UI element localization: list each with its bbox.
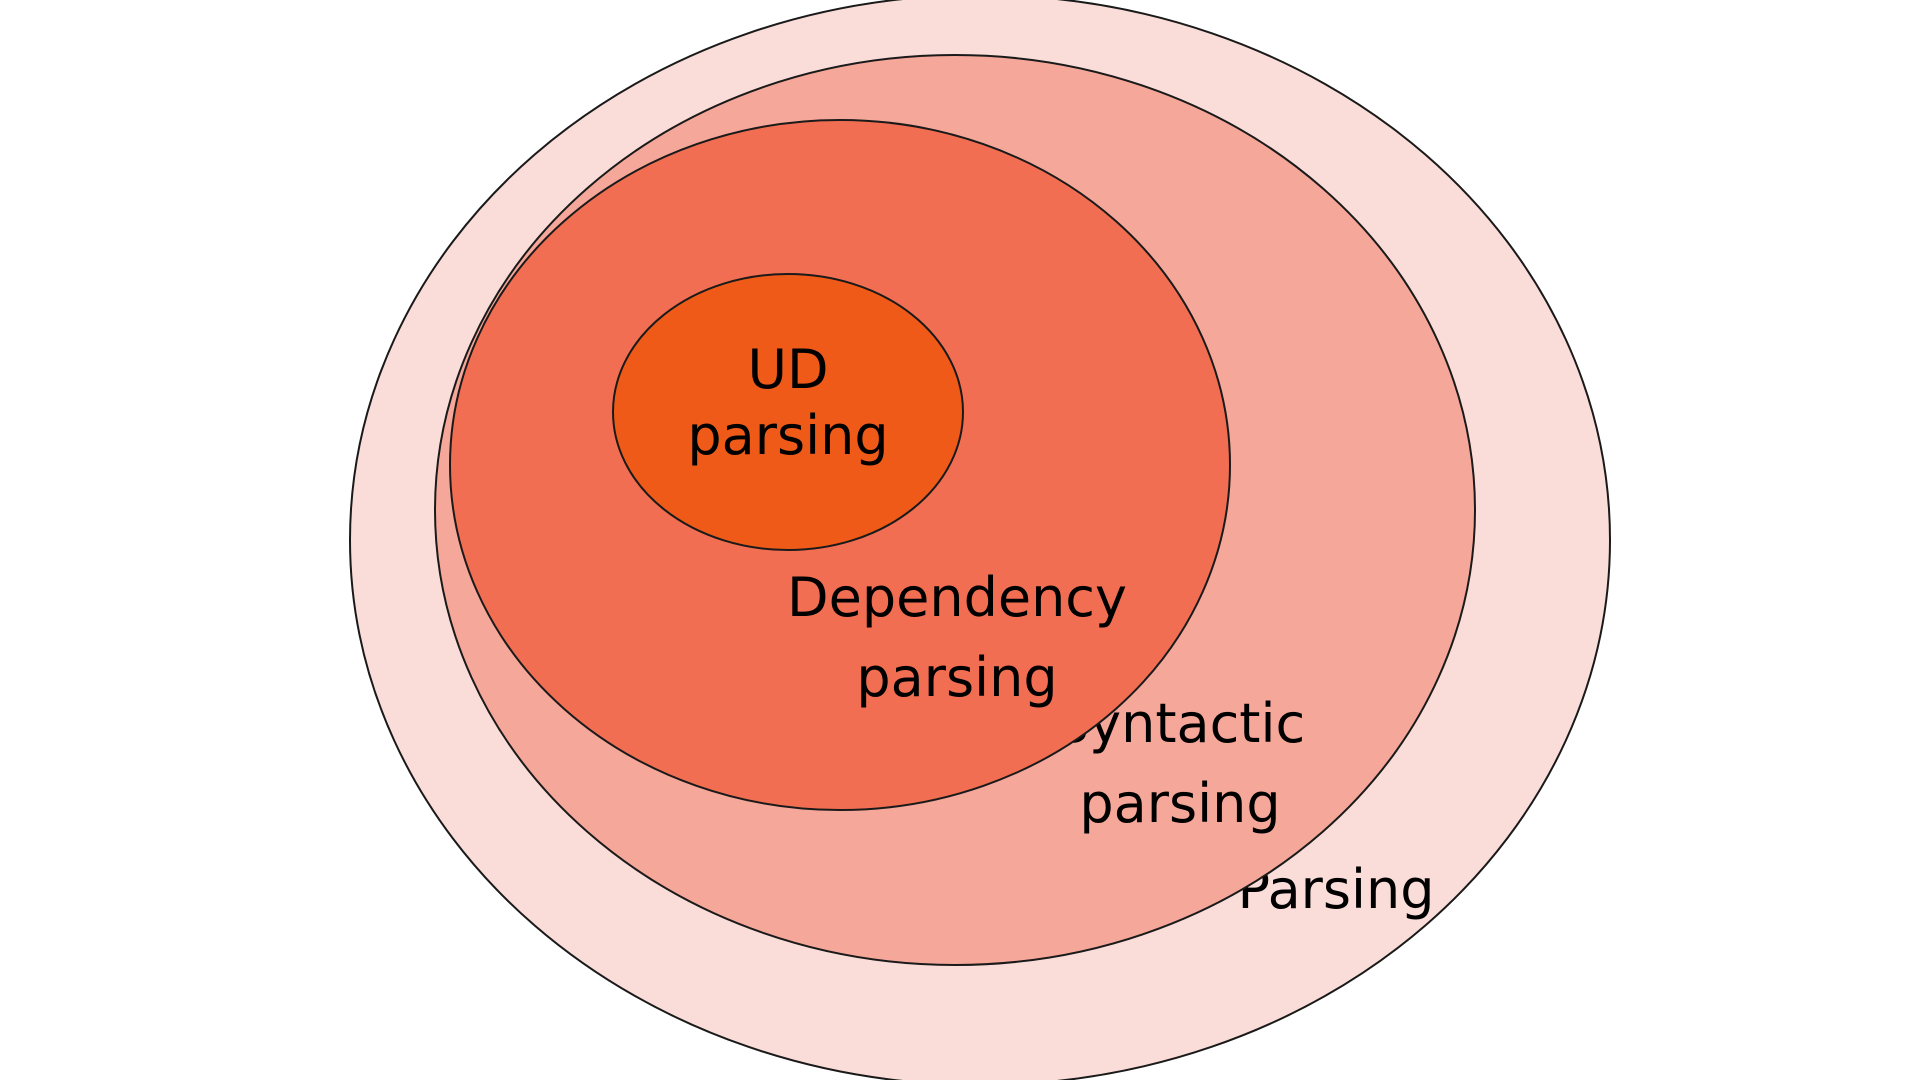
label-line: parsing xyxy=(856,646,1057,709)
label-line: Dependency xyxy=(787,566,1127,629)
ring-group-ud-parsing[interactable]: UDparsing xyxy=(613,274,963,550)
nested-set-diagram: Parsing Syntacticparsing Dependencyparsi… xyxy=(0,0,1920,1080)
label-line: UD xyxy=(747,338,828,401)
label-line: parsing xyxy=(687,404,888,467)
label-line: parsing xyxy=(1079,772,1280,835)
diagram-canvas: Parsing Syntacticparsing Dependencyparsi… xyxy=(0,0,1920,1080)
